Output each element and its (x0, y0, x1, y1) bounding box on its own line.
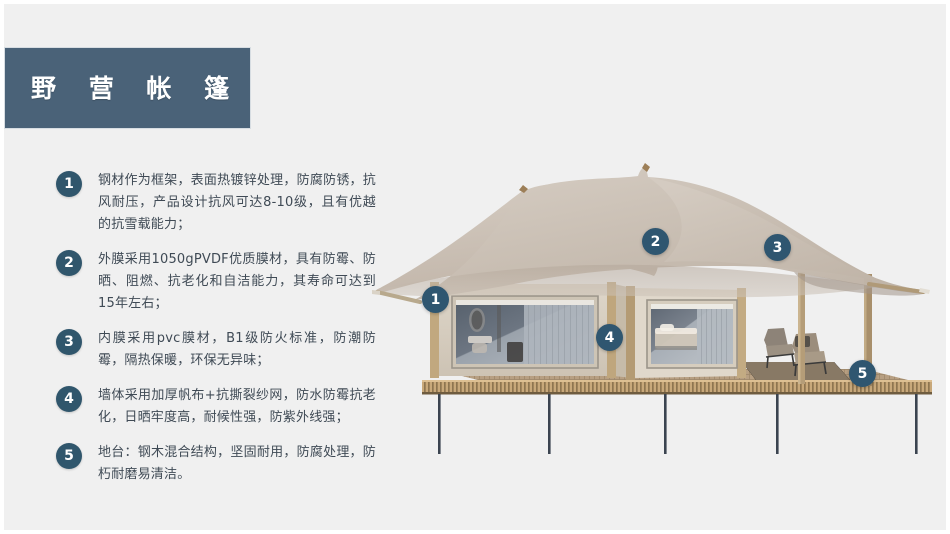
feature-list: 1 钢材作为框架，表面热镀锌处理，防腐防锈，抗风耐压，产品设计抗风可达8-10级… (56, 170, 376, 486)
page-title: 野 营 帐 篷 (31, 76, 241, 101)
callout-badge-2[interactable]: 2 (642, 228, 669, 255)
list-item: 2 外膜采用1050gPVDF优质膜材，具有防霉、防晒、阻燃、抗老化和自洁能力，… (56, 249, 376, 315)
feature-number-badge: 4 (56, 386, 82, 412)
callout-badge-1[interactable]: 1 (422, 286, 449, 313)
tent-graphic (364, 154, 944, 454)
title-banner: 野 营 帐 篷 (5, 48, 250, 128)
tent-illustration (364, 154, 944, 454)
feature-number-badge: 3 (56, 329, 82, 355)
watermark (946, 392, 950, 462)
callout-badge-3[interactable]: 3 (764, 234, 791, 261)
callout-badge-5[interactable]: 5 (849, 360, 876, 387)
list-item: 4 墙体采用加厚帆布+抗撕裂纱网，防水防霉抗老化，日晒牢度高，耐候性强，防紫外线… (56, 385, 376, 429)
list-item: 5 地台：钢木混合结构，坚固耐用，防腐处理，防朽耐磨易清洁。 (56, 442, 376, 486)
callout-badge-4[interactable]: 4 (596, 324, 623, 351)
list-item: 3 内膜采用pvc膜材，B1级防火标准，防潮防霉，隔热保暖，环保无异味； (56, 328, 376, 372)
list-item: 1 钢材作为框架，表面热镀锌处理，防腐防锈，抗风耐压，产品设计抗风可达8-10级… (56, 170, 376, 236)
slide-canvas: 野 营 帐 篷 1 钢材作为框架，表面热镀锌处理，防腐防锈，抗风耐压，产品设计抗… (0, 0, 950, 534)
feature-description: 墙体采用加厚帆布+抗撕裂纱网，防水防霉抗老化，日晒牢度高，耐候性强，防紫外线强； (98, 385, 376, 429)
feature-description: 钢材作为框架，表面热镀锌处理，防腐防锈，抗风耐压，产品设计抗风可达8-10级，且… (98, 170, 376, 236)
feature-description: 地台：钢木混合结构，坚固耐用，防腐处理，防朽耐磨易清洁。 (98, 442, 376, 486)
feature-description: 外膜采用1050gPVDF优质膜材，具有防霉、防晒、阻燃、抗老化和自洁能力，其寿… (98, 249, 376, 315)
feature-description: 内膜采用pvc膜材，B1级防火标准，防潮防霉，隔热保暖，环保无异味； (98, 328, 376, 372)
feature-number-badge: 5 (56, 443, 82, 469)
feature-number-badge: 1 (56, 171, 82, 197)
feature-number-badge: 2 (56, 250, 82, 276)
